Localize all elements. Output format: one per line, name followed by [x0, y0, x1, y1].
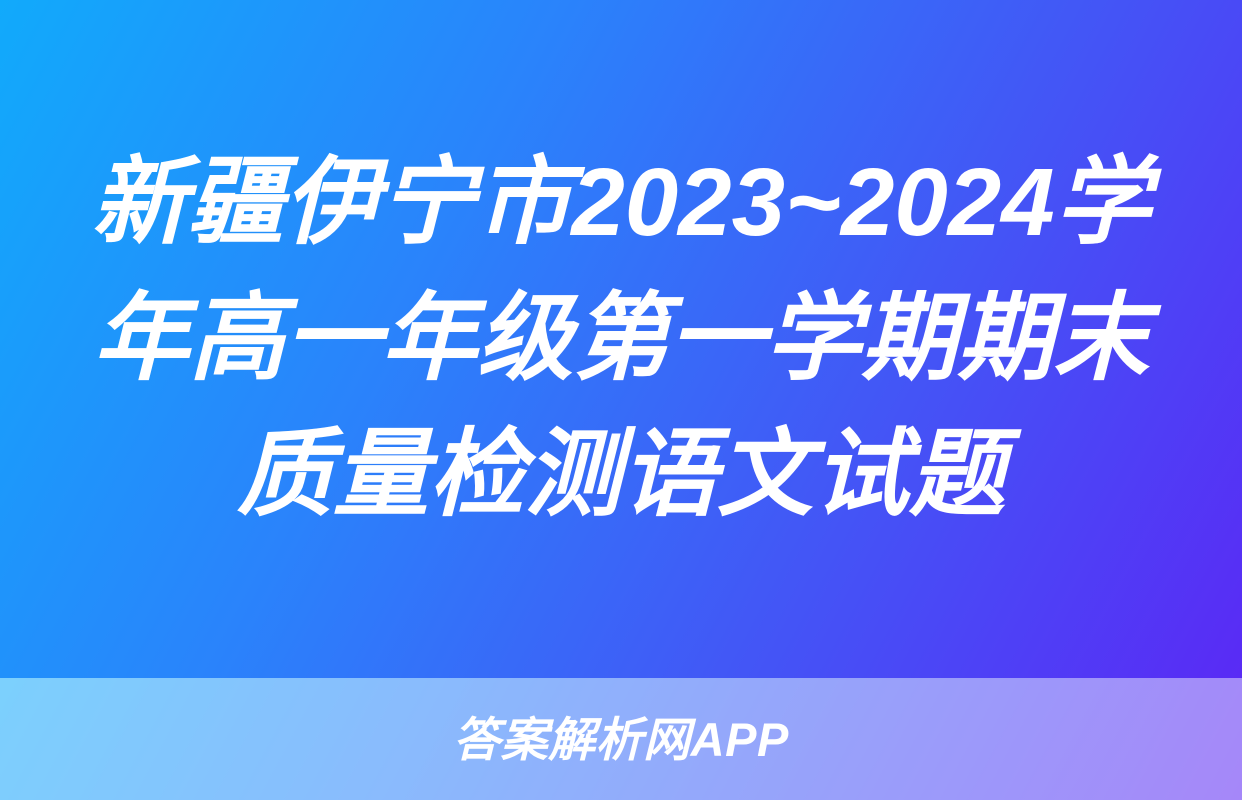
app-watermark-label: 答案解析网APP	[453, 716, 789, 763]
exam-paper-cover-banner: 新疆伊宁市2023~2024学年高一年级第一学期期末质量检测语文试题 答案解析网…	[0, 0, 1242, 800]
title-area: 新疆伊宁市2023~2024学年高一年级第一学期期末质量检测语文试题	[0, 0, 1242, 678]
page-title: 新疆伊宁市2023~2024学年高一年级第一学期期末质量检测语文试题	[46, 135, 1196, 544]
footer-band: 答案解析网APP	[0, 678, 1242, 800]
footer-inner: 答案解析网APP	[0, 678, 1242, 800]
